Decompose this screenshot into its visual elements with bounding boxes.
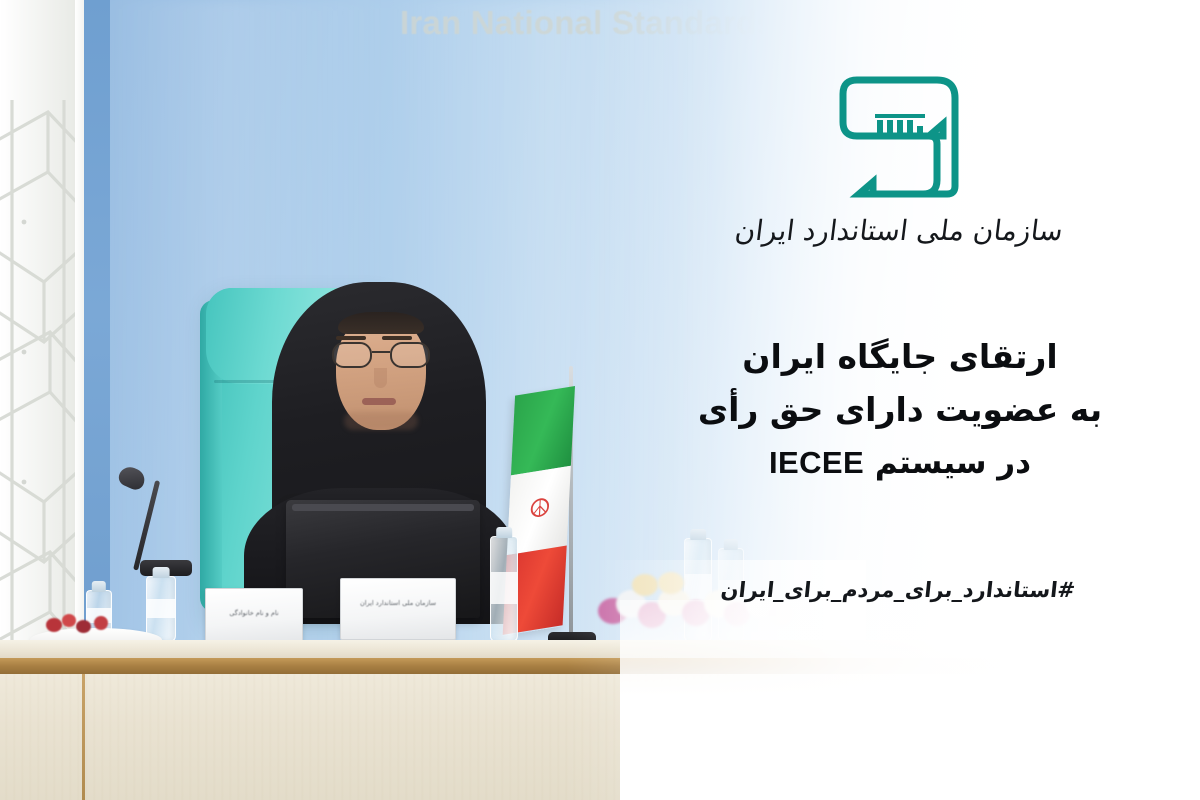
eyebrow-left <box>336 336 366 340</box>
flag-band-green <box>511 386 575 476</box>
lens-left <box>332 342 372 368</box>
hair-fringe <box>338 312 424 334</box>
nose <box>374 368 387 388</box>
wall-banner-strip: Iran National Standards Org <box>100 0 1200 62</box>
headline-block: ارتقای جایگاه ایران به عضویت دارای حق رأ… <box>680 330 1120 490</box>
islamic-lattice-panel <box>0 0 84 690</box>
glasses-bridge <box>372 351 390 353</box>
bottle-cap <box>724 539 738 550</box>
nameplate: سازمان ملی استاندارد ایران <box>340 578 456 640</box>
eyebrow-right <box>382 336 412 340</box>
fruit <box>76 620 91 633</box>
bottle-label <box>491 572 517 603</box>
desk-wood-grain <box>0 674 1200 800</box>
chin-shadow <box>344 412 418 430</box>
desk-panel-seam <box>82 674 85 800</box>
campaign-hashtag: #استاندارد_برای_مردم_برای_ایران <box>677 578 1120 602</box>
fruit <box>46 618 62 632</box>
lens-right <box>390 342 430 368</box>
bottle-label <box>147 599 175 618</box>
water-bottle <box>490 536 518 642</box>
fruit <box>62 614 76 627</box>
water-bottle <box>146 576 176 642</box>
isiri-logo-icon <box>833 74 965 200</box>
isiri-logo-letters <box>875 114 925 138</box>
nameplate-text: نام و نام خانوادگی <box>206 609 302 618</box>
headline-line-3-latin: IECEE <box>769 445 864 480</box>
headline-line-2: به عضویت دارای حق رأی <box>680 383 1120 436</box>
news-banner: Iran National Standards Org <box>0 0 1200 800</box>
fruit <box>94 616 108 630</box>
bottle-cap <box>496 527 512 538</box>
brand-block: سازمان ملی استاندارد ایران <box>684 74 1114 247</box>
wall-banner-text: Iran National Standards Org <box>400 4 844 42</box>
flag-emblem-icon: ☮ <box>527 494 552 524</box>
lattice-edge <box>75 0 84 690</box>
organization-name: سازمان ملی استاندارد ایران <box>682 214 1116 247</box>
headline-line-1: ارتقای جایگاه ایران <box>680 330 1120 383</box>
eyeglasses-icon <box>330 342 434 368</box>
laptop-hinge <box>292 504 474 511</box>
nameplate-text: سازمان ملی استاندارد ایران <box>341 599 455 608</box>
nameplate: نام و نام خانوادگی <box>205 588 303 644</box>
mouth <box>362 398 396 405</box>
bottle-cap <box>690 529 706 540</box>
headline-line-3-prefix: در سیستم <box>875 445 1031 481</box>
bottle-cap <box>153 567 170 578</box>
bottle-cap <box>92 581 106 592</box>
headline-line-3: در سیستم IECEE <box>680 436 1120 490</box>
